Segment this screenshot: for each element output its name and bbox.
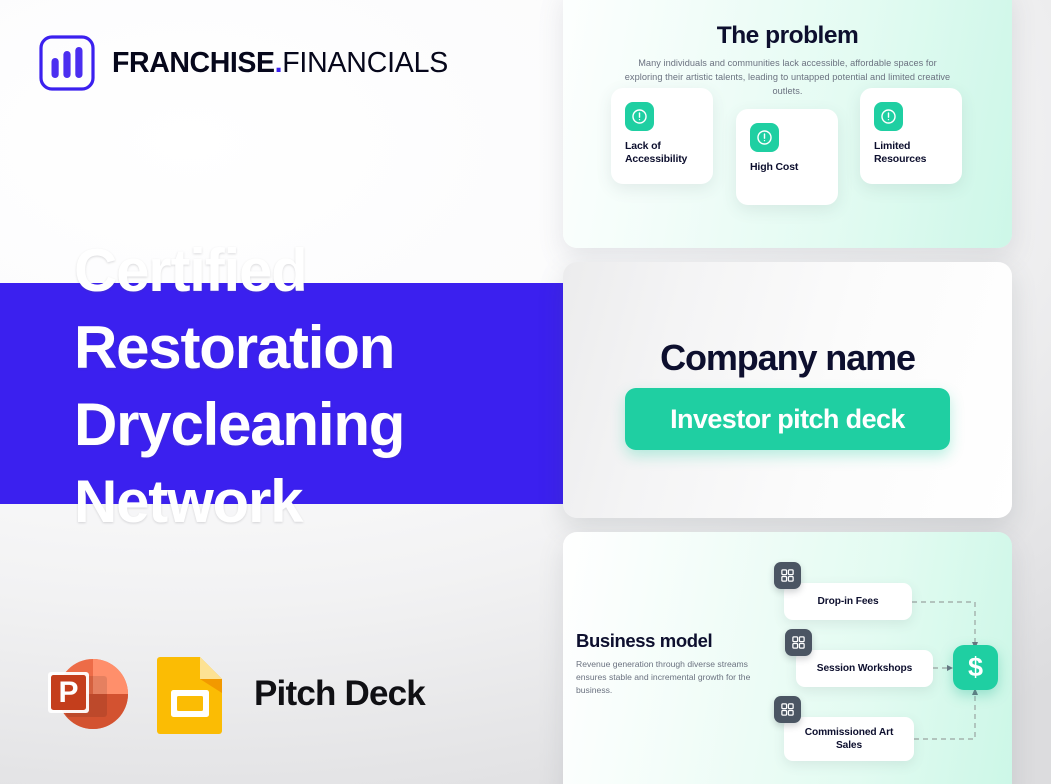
headline-line-4: Network bbox=[74, 463, 544, 540]
format-badges: P Pitch Deck bbox=[40, 648, 425, 740]
investor-pitch-deck-label: Investor pitch deck bbox=[670, 404, 905, 435]
business-model-title: Business model bbox=[576, 630, 712, 652]
company-name-title: Company name bbox=[563, 337, 1012, 379]
pitch-deck-label: Pitch Deck bbox=[254, 674, 425, 714]
slide-business-model[interactable]: Business model Revenue generation throug… bbox=[563, 532, 1012, 784]
problem-card-1-label: Lack of Accessibility bbox=[625, 140, 705, 166]
revenue-stream-3[interactable]: Commissioned Art Sales bbox=[784, 717, 914, 761]
revenue-stream-3-label: Commissioned Art Sales bbox=[784, 726, 914, 752]
problem-card-2-label: High Cost bbox=[750, 161, 830, 174]
headline-line-2: Restoration bbox=[74, 309, 544, 386]
dollar-sign-icon: $ bbox=[953, 645, 998, 690]
promo-canvas: FRANCHISE.FINANCIALS Certified Restorati… bbox=[0, 0, 1051, 784]
headline-line-3: Drycleaning bbox=[74, 386, 544, 463]
revenue-stream-1[interactable]: Drop-in Fees bbox=[784, 583, 912, 620]
bar-chart-logo-icon bbox=[38, 34, 96, 92]
brand-name-bold: FRANCHISE bbox=[112, 47, 275, 79]
headline-line-1: Certified bbox=[74, 232, 544, 309]
investor-pitch-deck-button[interactable]: Investor pitch deck bbox=[625, 388, 950, 450]
problem-card-3[interactable]: Limited Resources bbox=[860, 88, 962, 184]
grid-squares-icon bbox=[774, 562, 801, 589]
brand-logo[interactable]: FRANCHISE.FINANCIALS bbox=[38, 34, 448, 92]
dollar-sign-label: $ bbox=[968, 654, 983, 681]
brand-name-light: FINANCIALS bbox=[282, 47, 448, 79]
business-model-subtitle: Revenue generation through diverse strea… bbox=[576, 658, 758, 697]
page-title: Certified Restoration Drycleaning Networ… bbox=[74, 232, 544, 540]
problem-card-3-label: Limited Resources bbox=[874, 140, 954, 166]
revenue-stream-1-label: Drop-in Fees bbox=[807, 595, 888, 608]
problem-card-1[interactable]: Lack of Accessibility bbox=[611, 88, 713, 184]
problem-title: The problem bbox=[563, 22, 1012, 50]
alert-circle-icon bbox=[625, 102, 654, 131]
powerpoint-icon: P bbox=[40, 648, 132, 740]
revenue-stream-2-label: Session Workshops bbox=[807, 662, 922, 675]
google-slides-icon bbox=[154, 654, 226, 734]
svg-text:P: P bbox=[58, 676, 78, 709]
problem-card-2[interactable]: High Cost bbox=[736, 109, 838, 205]
brand-wordmark: FRANCHISE.FINANCIALS bbox=[112, 49, 448, 78]
slide-cover[interactable]: Company name Investor pitch deck bbox=[563, 262, 1012, 518]
alert-circle-icon bbox=[874, 102, 903, 131]
alert-circle-icon bbox=[750, 123, 779, 152]
revenue-stream-2[interactable]: Session Workshops bbox=[796, 650, 933, 687]
grid-squares-icon bbox=[774, 696, 801, 723]
grid-squares-icon bbox=[785, 629, 812, 656]
slide-the-problem[interactable]: The problem Many individuals and communi… bbox=[563, 0, 1012, 248]
